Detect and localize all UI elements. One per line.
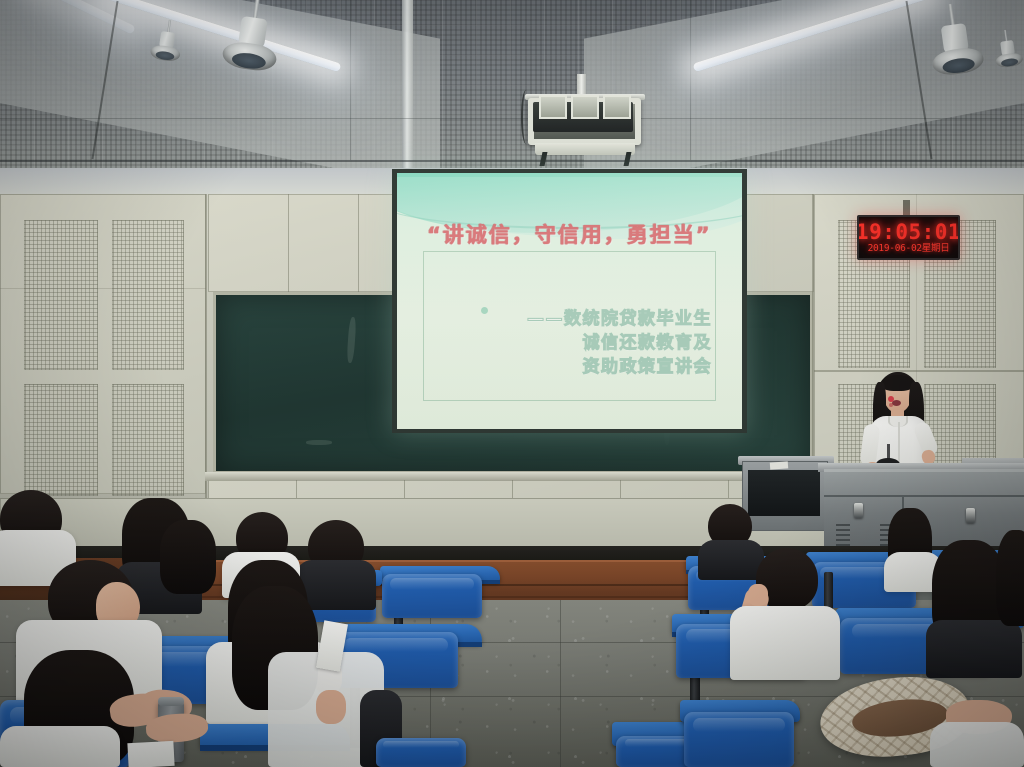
acoustic-perforated-panel [112,220,184,370]
side-desk-cavity [748,470,820,516]
led-clock-display: 19:05:01 2019-06-02星期日 [857,215,960,260]
podium-seam [824,495,1024,497]
ceiling-beam [402,0,413,176]
paper-on-desk [770,461,788,469]
acoustic-perforated-panel [24,220,98,370]
acoustic-perforated-panel [24,384,98,496]
chalk-mark [346,317,356,363]
presentation-slide: “讲诚信，守信用，勇担当” ——数统院贷款毕业生 诚信还款教育及 资助政策宣讲会 [397,173,742,429]
presenter-shirt-placket [898,422,900,462]
projector-window [571,95,599,119]
wall-seam [358,194,359,292]
acoustic-perforated-panel [112,384,184,496]
projector-stem [577,74,586,96]
slide-subtitle-line-1: ——数统院贷款毕业生 [527,307,712,331]
projector-base [535,143,635,155]
ceiling-seam [350,0,351,160]
wall-seam [288,194,289,292]
slide-subtitle-line-3: 资助政策宣讲会 [527,355,712,379]
slide-title: “讲诚信，守信用，勇担当” [397,219,742,249]
podium-lock[interactable] [854,503,863,518]
slide-subtitle-line-2: 诚信还款教育及 [527,331,712,355]
slide-subtitle: ——数统院贷款毕业生 诚信还款教育及 资助政策宣讲会 [527,307,712,379]
projector-cable [521,90,531,144]
clock-date: 2019-06-02星期日 [868,243,950,255]
wall-seam [0,288,206,289]
audience-sleeve [930,722,1024,767]
slide-bullet-dot [481,307,488,314]
clock-time: 19:05:01 [857,221,960,243]
presenter-mouth [892,400,901,406]
thermos-cap [158,697,184,706]
projector-window [539,95,567,119]
handout-paper [127,741,174,767]
ceiling-seam [690,0,691,160]
headset-mic-icon [888,396,894,402]
projector-window [603,95,631,119]
lecture-hall-photo: “讲诚信，守信用，勇担当” ——数统院贷款毕业生 诚信还款教育及 资助政策宣讲会… [0,0,1024,767]
ceiling-projector [505,88,665,168]
floor-grout-line [560,600,561,767]
wall-seam [205,194,207,514]
podium-lock[interactable] [966,508,975,523]
chalk-mark [306,440,332,445]
projection-screen: “讲诚信，守信用，勇担当” ——数统院贷款毕业生 诚信还款教育及 资助政策宣讲会 [392,169,747,433]
podium-vent [836,524,850,546]
